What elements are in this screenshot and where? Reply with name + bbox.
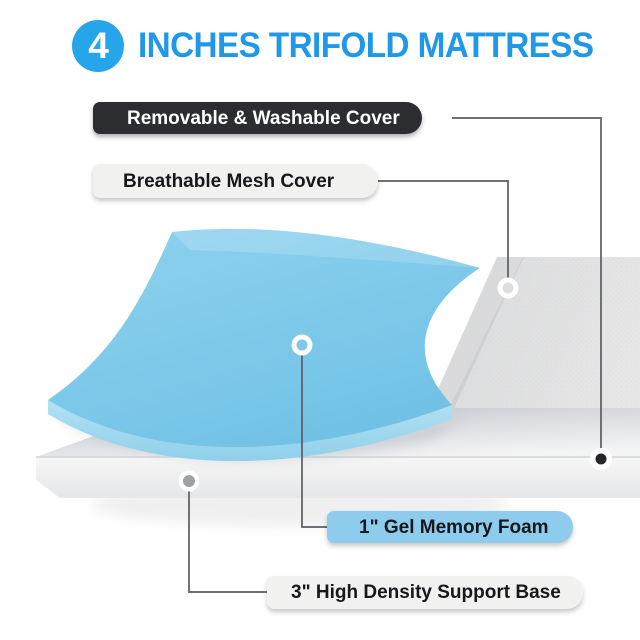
base-front-face [36, 457, 640, 498]
callout-label-text: 3" High Density Support Base [291, 583, 561, 602]
gel-memory-foam-layer [48, 229, 480, 461]
marker-base-inner [183, 475, 195, 487]
callout-label-breathable-mesh-cover[interactable]: Breathable Mesh Cover [93, 164, 378, 198]
marker-mesh-inner [503, 283, 514, 294]
product-illustration [0, 0, 640, 640]
callout-label-high-density-support-base[interactable]: 3" High Density Support Base [267, 576, 583, 609]
callout-label-removable-washable-cover[interactable]: Removable & Washable Cover [93, 102, 422, 134]
callout-label-text: Breathable Mesh Cover [123, 172, 334, 191]
infographic-canvas: 4 INCHES TRIFOLD MATTRESS [0, 0, 640, 640]
marker-removable-inner [596, 454, 607, 465]
callout-label-gel-memory-foam[interactable]: 1" Gel Memory Foam [327, 511, 573, 543]
callout-label-text: Removable & Washable Cover [127, 109, 400, 128]
callout-label-text: 1" Gel Memory Foam [359, 518, 549, 537]
marker-gel-inner [297, 340, 308, 351]
